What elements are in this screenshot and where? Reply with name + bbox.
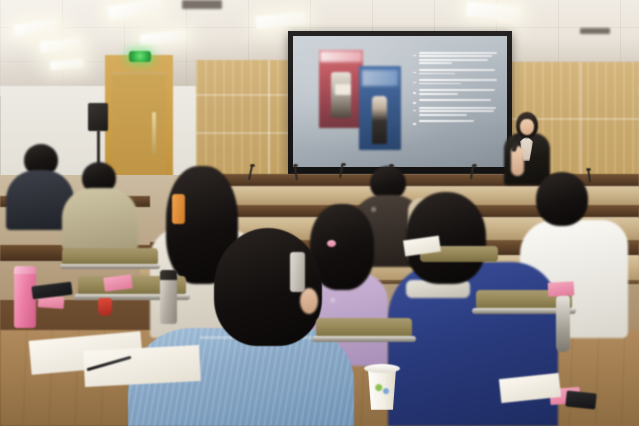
chair-mid[interactable] bbox=[316, 318, 412, 338]
slide-bullet-list bbox=[413, 52, 497, 128]
lecture-hall-photo bbox=[0, 0, 639, 426]
steel-thermos[interactable] bbox=[160, 276, 177, 324]
slide-bullet-6 bbox=[413, 107, 497, 117]
panel-seam-3 bbox=[268, 60, 270, 188]
slide-title-banner bbox=[320, 51, 362, 62]
wall-speaker bbox=[88, 103, 108, 131]
bullet-dash-icon bbox=[413, 110, 416, 111]
pink-notebook-3[interactable] bbox=[548, 281, 575, 296]
slide-bullet-4 bbox=[413, 89, 497, 96]
slide-bullet-3 bbox=[413, 79, 497, 86]
slide-bullet-1 bbox=[413, 52, 497, 66]
panel-seam-2 bbox=[196, 132, 302, 134]
chair-mid-frame bbox=[312, 336, 416, 342]
attendee-sweater bbox=[62, 188, 138, 250]
attendee-hair bbox=[214, 228, 322, 346]
orange-bottle bbox=[172, 194, 185, 224]
pink-thermos-cap bbox=[14, 266, 36, 274]
panel-seam-4 bbox=[580, 62, 582, 192]
bullet-dash-icon bbox=[413, 92, 416, 93]
paper-cup-floral-print bbox=[374, 382, 390, 396]
slide-bullet-5 bbox=[413, 99, 497, 103]
conference-mic-head-6 bbox=[586, 168, 591, 171]
conference-mic-head-1 bbox=[250, 164, 255, 167]
door-handle[interactable] bbox=[152, 112, 156, 154]
paper-cup-rim bbox=[364, 364, 400, 373]
bullet-dash-icon bbox=[413, 72, 416, 73]
projection-screen bbox=[293, 36, 507, 167]
slide-award-photo-blue bbox=[359, 66, 401, 150]
conference-mic-head-5 bbox=[472, 164, 477, 167]
presenter-face bbox=[520, 119, 534, 135]
smartphone-2[interactable] bbox=[565, 390, 597, 409]
conference-mic-head-3 bbox=[341, 163, 346, 166]
conference-mic-head-2 bbox=[293, 164, 298, 167]
pink-hair-tie bbox=[327, 240, 336, 247]
exit-sign-icon bbox=[129, 51, 151, 62]
slide-photo-blue-caption bbox=[362, 70, 398, 86]
red-desk-object bbox=[98, 298, 112, 316]
bullet-dash-icon bbox=[413, 123, 416, 124]
panel-seam-1 bbox=[196, 94, 302, 96]
ceiling-vent-1 bbox=[182, 0, 222, 9]
slide-award-photo-red bbox=[319, 50, 363, 128]
attendee-hair bbox=[536, 172, 588, 226]
bullet-dash-icon bbox=[413, 102, 416, 103]
slide-bullet-7 bbox=[413, 120, 497, 124]
steel-thermos-2[interactable] bbox=[290, 252, 305, 292]
chair-right-arm bbox=[556, 294, 570, 352]
bullet-dash-icon bbox=[413, 55, 416, 56]
steel-thermos-cap bbox=[160, 270, 177, 280]
chair-left-1-frame bbox=[60, 264, 160, 269]
ceiling-vent-2 bbox=[580, 28, 610, 34]
slide-bullet-2 bbox=[413, 69, 497, 76]
bullet-dash-icon bbox=[413, 82, 416, 83]
